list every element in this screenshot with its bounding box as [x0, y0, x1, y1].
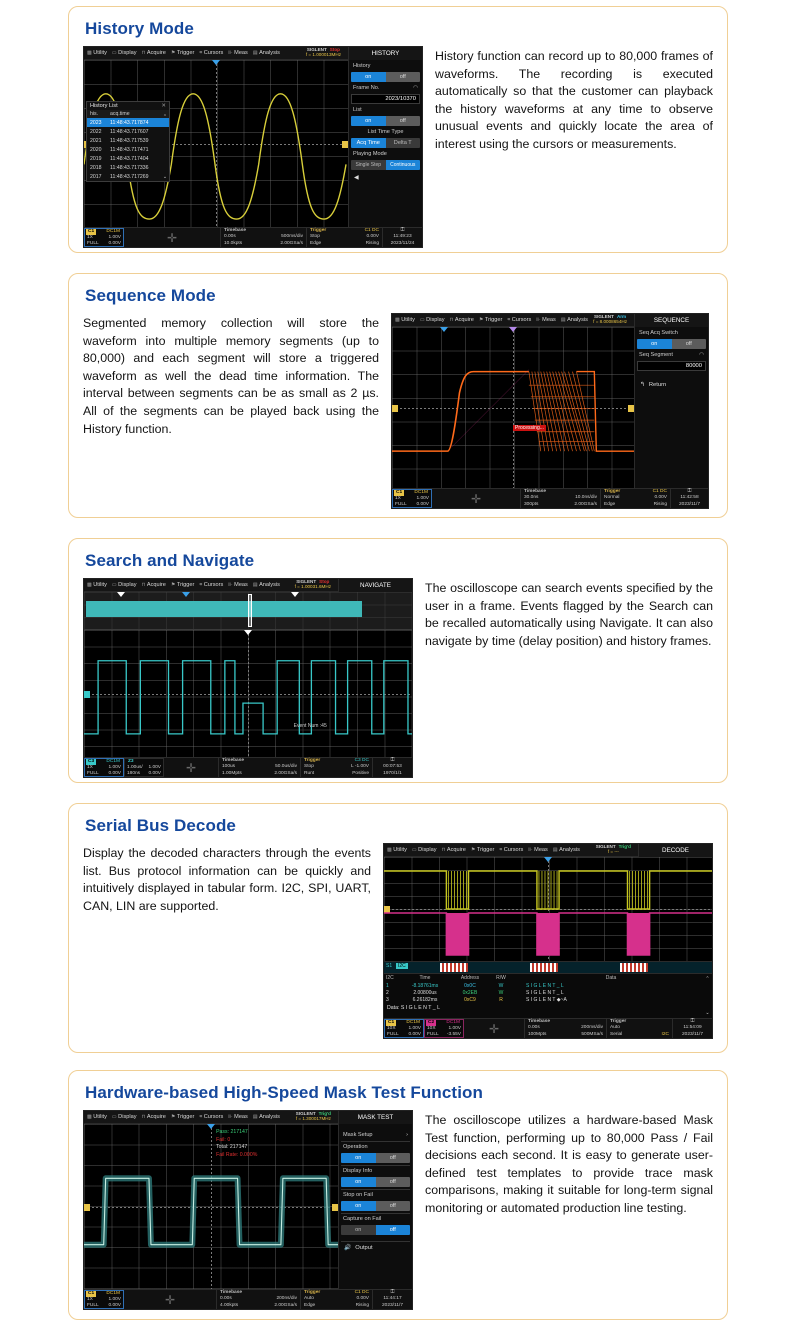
- menu-item-meas[interactable]: ⊪Meas: [228, 50, 248, 56]
- history-list-columns: his. acq.time: [87, 110, 169, 118]
- zoom-offset: 0.00V: [148, 771, 161, 777]
- menu-label: Meas: [542, 317, 556, 323]
- list-item[interactable]: 202311:48:43.717874: [87, 118, 169, 127]
- row-rw: R: [490, 997, 512, 1003]
- menu-item-meas[interactable]: ⊪Meas: [536, 317, 556, 323]
- channel-badge-c1[interactable]: C1DC1M 1X1.00V FULL0.00V: [84, 228, 124, 247]
- column-header-i2c: I2C: [386, 975, 400, 981]
- search-event-marker[interactable]: [182, 592, 190, 597]
- menu-item-trigger[interactable]: ⚑Trigger: [171, 50, 195, 56]
- frame-time: 11:48:43.717539: [110, 138, 166, 144]
- column-header-address: Address: [450, 975, 490, 981]
- cursors-icon: ⌗: [199, 1114, 202, 1120]
- menu-item-analysis[interactable]: ▤Analysis: [553, 847, 580, 853]
- decode-bus-strip[interactable]: S1 I2C: [384, 961, 712, 973]
- side-panel-history: History on off Frame No.◠ 2023/10370 Lis…: [348, 60, 422, 227]
- frame-time: 11:48:43.717607: [110, 129, 166, 135]
- timebase-group[interactable]: Timebase 0.00s200ns/div 4.00kpts2.00GSa/…: [216, 1290, 300, 1309]
- trigger-group[interactable]: TriggerC1 DC Normal0.00V EdgeRising: [600, 489, 670, 508]
- scope-middle: 1 History List ✕ his. a: [84, 60, 422, 227]
- history-list-title: History List: [90, 103, 118, 109]
- toggle-off[interactable]: off: [376, 1177, 411, 1187]
- frame-id: 2017: [90, 174, 110, 180]
- toggle-on[interactable]: on: [637, 339, 672, 349]
- menu-label: Utility: [93, 50, 107, 56]
- frame-time: 11:48:43.717874: [110, 120, 166, 126]
- menu-item-trigger[interactable]: ⚑Trigger: [171, 1114, 195, 1120]
- trigger-type: Serial: [610, 1032, 622, 1038]
- frame-id: 2020: [90, 147, 110, 153]
- row-index: 1: [386, 983, 400, 989]
- trigger-group[interactable]: TriggerC1 DC Auto0.00V EdgeRising: [300, 1290, 372, 1309]
- menu-item-trigger[interactable]: ⚑Trigger: [171, 582, 195, 588]
- row-index: 2: [386, 990, 400, 996]
- mask-setup-item[interactable]: Mask Setup›: [341, 1126, 410, 1139]
- acquire-icon: ⊓: [450, 317, 454, 323]
- menu-label: Display: [118, 582, 136, 588]
- search-event-marker[interactable]: [291, 592, 299, 597]
- row-address: 0x2EB: [450, 990, 490, 996]
- trigger-group[interactable]: TriggerC3 DC StopL -1.00V RuntPositive: [300, 758, 372, 777]
- menu-item-acquire[interactable]: ⊓Acquire: [142, 582, 166, 588]
- event-num-label: Event Num :45: [294, 723, 327, 729]
- row-time: -8.18761ms: [400, 983, 450, 989]
- timebase-samplerate: 2.00GSa/s: [274, 1303, 297, 1309]
- menu-label: Acquire: [147, 1114, 166, 1120]
- description-navigate: The oscilloscope can search events speci…: [425, 578, 713, 650]
- trigger-icon: ⚑: [171, 50, 175, 56]
- clock-date: 1970/1/1: [383, 771, 402, 777]
- waveform-grid[interactable]: [384, 857, 712, 961]
- clock-group: ⚿ 11:49:23 2023/11/24: [382, 228, 422, 247]
- stop-on-fail-toggle[interactable]: on off: [341, 1201, 410, 1211]
- row-data: S I G L E N T _ L: [512, 983, 710, 989]
- channel-badge-c2[interactable]: C2DC1M 10X1.00V FULL-3.55V: [424, 1019, 464, 1038]
- row-rw: W: [490, 983, 512, 989]
- oscilloscope-screenshot-navigate: ▩Utility ▭Display ⊓Acquire ⚑Trigger ⌗Cur…: [83, 578, 413, 778]
- column-header-acqtime: acq.time: [110, 111, 166, 117]
- menu-label: Utility: [401, 317, 415, 323]
- frequency-readout: f = 1.000013MHz: [306, 53, 341, 58]
- waveform-trace-digital: [84, 630, 412, 757]
- menu-label: Trigger: [477, 847, 495, 853]
- channel-bandwidth: FULL: [395, 502, 407, 508]
- toggle-on[interactable]: on: [351, 72, 386, 82]
- menu-item-utility[interactable]: ▩Utility: [87, 50, 107, 56]
- menu-item-display[interactable]: ▭Display: [112, 582, 137, 588]
- list-item[interactable]: 201711:48:43.717269: [87, 172, 169, 181]
- setting-label: Playing Mode: [351, 150, 420, 158]
- timebase-samplerate: 2.00GSa/s: [574, 502, 597, 508]
- trigger-group[interactable]: Trigger Auto SerialI2C: [606, 1019, 672, 1038]
- list-toggle[interactable]: on off: [351, 116, 420, 126]
- chevron-up-icon[interactable]: ⌃: [705, 976, 709, 982]
- utility-icon: ▩: [87, 50, 92, 56]
- menu-item-utility[interactable]: ▩Utility: [87, 1114, 107, 1120]
- meas-icon: ⊪: [228, 582, 232, 588]
- cursor-crosshair-icon: ✛: [124, 1290, 216, 1309]
- oscilloscope-screenshot-history: ▩Utility ▭Display ⊓Acquire ⚑Trigger ⌗Cur…: [83, 46, 423, 248]
- display-icon: ▭: [112, 582, 117, 588]
- timebase-group[interactable]: Timebase 30.0ns10.0ns/div 300pts2.00GSa/…: [520, 489, 600, 508]
- toggle-on[interactable]: on: [351, 116, 386, 126]
- trigger-slope: Rising: [356, 1303, 369, 1309]
- mask-pass-count: Pass: 217147: [216, 1129, 257, 1137]
- setting-label: Stop on Fail: [341, 1189, 410, 1199]
- scope-status-bar: C1DC1M 10X1.00V FULL0.00V C2DC1M 10X1.00…: [384, 1018, 712, 1038]
- row-address: 0x0C: [450, 983, 490, 989]
- channel-bandwidth: FULL: [87, 771, 99, 777]
- cursor-crosshair-icon: ✛: [464, 1019, 524, 1038]
- column-header-his: his.: [90, 111, 110, 117]
- menu-item-acquire[interactable]: ⊓Acquire: [442, 847, 466, 853]
- menu-item-analysis[interactable]: ▤Analysis: [253, 582, 280, 588]
- toggle-off[interactable]: off: [386, 116, 421, 126]
- row-index: 3: [386, 997, 400, 1003]
- table-row[interactable]: 2 2.00800us 0x2EB W S I G L E N T _ L: [384, 989, 712, 996]
- toggle-on[interactable]: on: [341, 1201, 376, 1211]
- menu-item-analysis[interactable]: ▤Analysis: [561, 317, 588, 323]
- trigger-icon: ⚑: [471, 847, 475, 853]
- scope-middle: Event Num :45: [84, 592, 412, 757]
- oscilloscope-screenshot-masktest: ▩Utility ▭Display ⊓Acquire ⚑Trigger ⌗Cur…: [83, 1110, 413, 1310]
- history-list-header: History List ✕: [87, 102, 169, 110]
- menu-item-trigger[interactable]: ⚑Trigger: [471, 847, 495, 853]
- channel-offset: 0.00V: [416, 502, 429, 508]
- row-rw: W: [490, 990, 512, 996]
- history-toggle[interactable]: on off: [351, 72, 420, 82]
- channel-bandwidth: FULL: [387, 1032, 399, 1038]
- page-title: History Mode: [85, 19, 713, 39]
- toggle-off[interactable]: off: [376, 1201, 411, 1211]
- cursors-icon: ⌗: [199, 50, 202, 56]
- channel-offset: -3.55V: [447, 1032, 461, 1038]
- waveform-grid[interactable]: Processing...: [392, 327, 634, 488]
- menu-item-cursors[interactable]: ⌗Cursors: [507, 317, 531, 323]
- brand-status-box: SIGLENT Arm f = 8.0008654Hz: [593, 315, 629, 325]
- menu-label: Utility: [393, 847, 407, 853]
- trigger-icon: ⚑: [171, 1114, 175, 1120]
- waveform-grid[interactable]: Pass: 217147 Fail: 0 Total: 217147 Fail …: [84, 1124, 338, 1289]
- menu-label: Trigger: [177, 1114, 195, 1120]
- scope-menubar: ▩Utility ▭Display ⊓Acquire ⚑Trigger ⌗Cur…: [84, 1111, 412, 1124]
- frame-time: 11:48:43.717471: [110, 147, 166, 153]
- menu-label: Analysis: [559, 847, 580, 853]
- toggle-off[interactable]: off: [386, 72, 421, 82]
- utility-icon: ▩: [395, 317, 400, 323]
- menu-item-acquire[interactable]: ⊓Acquire: [450, 317, 474, 323]
- acquisition-status: Trig'd: [619, 845, 631, 850]
- return-button[interactable]: ↰Return: [637, 379, 706, 391]
- knob-icon: ◠: [413, 85, 418, 91]
- scope-status-bar: C1DC1M 1X1.00V FULL0.00V ✛ Timebase 30.0…: [392, 488, 708, 508]
- toggle-off[interactable]: off: [376, 1225, 411, 1235]
- playing-mode-toggle[interactable]: Single Step Continuous: [351, 160, 420, 170]
- channel-bandwidth: FULL: [427, 1032, 439, 1038]
- waveform-grid[interactable]: Event Num :45: [84, 630, 412, 757]
- menu-label: Analysis: [259, 582, 280, 588]
- utility-icon: ▩: [87, 1114, 92, 1120]
- setting-label: List Time Type: [351, 128, 420, 136]
- scrollbar[interactable]: ⌃ ⌄: [162, 114, 168, 180]
- menu-item-acquire[interactable]: ⊓Acquire: [142, 50, 166, 56]
- frequency-readout: f = ---: [608, 850, 619, 855]
- description-masktest: The oscilloscope utilizes a hardware-bas…: [425, 1110, 713, 1218]
- description-sequence: Segmented memory collection will store t…: [83, 313, 379, 438]
- timebase-samplerate: 500MSa/s: [581, 1032, 603, 1038]
- scope-middle: Pass: 217147 Fail: 0 Total: 217147 Fail …: [84, 1124, 412, 1289]
- speaker-icon: 🔊: [344, 1245, 351, 1251]
- frame-no-label: Frame No.: [353, 85, 379, 91]
- history-list-panel[interactable]: History List ✕ his. acq.time 202311:48:4…: [86, 101, 170, 182]
- play-back-button[interactable]: ◀: [351, 172, 420, 184]
- timebase-group[interactable]: Timebase 0.00s200ms/div 100Mpts500MSa/s: [524, 1019, 606, 1038]
- menu-item-acquire[interactable]: ⊓Acquire: [142, 1114, 166, 1120]
- trigger-source: I2C: [662, 1032, 669, 1038]
- list-item[interactable]: 202011:48:43.717471: [87, 145, 169, 154]
- mask-setup-label: Mask Setup: [343, 1132, 373, 1138]
- row-time: 6.26182ms: [400, 997, 450, 1003]
- menu-item-analysis[interactable]: ▤Analysis: [253, 1114, 280, 1120]
- trigger-slope: Rising: [366, 241, 379, 247]
- menu-label: Cursors: [204, 582, 224, 588]
- mask-fail-count: Fail: 0: [216, 1137, 257, 1145]
- table-row[interactable]: 3 6.26182ms 0xC9 R S I G L E N T ◆~A: [384, 996, 712, 1003]
- toggle-delta-t[interactable]: Delta T: [386, 138, 421, 148]
- channel-badge-c1[interactable]: C1DC1M 1X1.00V FULL0.00V: [84, 1290, 124, 1309]
- setting-label: Seq Segment◠: [637, 351, 706, 359]
- operation-toggle[interactable]: on off: [341, 1153, 410, 1163]
- decode-data-footer: Data: S I G L E N T _ L: [384, 1003, 712, 1013]
- channel-badge-c3[interactable]: C3DC1M 1X1.00V FULL0.00V: [84, 758, 124, 777]
- analysis-icon: ▤: [253, 50, 258, 56]
- menu-item-display[interactable]: ▭Display: [412, 847, 437, 853]
- timebase-group[interactable]: Timebase 0.00s500ms/div 10.0kpts2.00GSa/…: [220, 228, 306, 247]
- analysis-icon: ▤: [561, 317, 566, 323]
- cursors-icon: ⌗: [507, 317, 510, 323]
- menu-label: Trigger: [177, 582, 195, 588]
- mask-statistics: Pass: 217147 Fail: 0 Total: 217147 Fail …: [216, 1129, 257, 1159]
- menu-item-cursors[interactable]: ⌗Cursors: [199, 50, 223, 56]
- card-search-navigate: Search and Navigate ▩Utility ▭Display ⊓A…: [68, 538, 728, 783]
- zoom-data-band: [86, 601, 362, 617]
- zoom-window-handle[interactable]: [248, 594, 252, 627]
- clock-group: ⚿ 11:42:58 2023/11/7: [670, 489, 708, 508]
- analysis-icon: ▤: [253, 582, 258, 588]
- table-row[interactable]: 1 -8.18761ms 0x0C W S I G L E N T _ L: [384, 982, 712, 989]
- menu-label: Trigger: [485, 317, 503, 323]
- cursor-crosshair-icon: ✛: [164, 758, 218, 777]
- toggle-on[interactable]: on: [341, 1153, 376, 1163]
- setting-label: Display Info: [341, 1165, 410, 1175]
- menu-label: Trigger: [177, 50, 195, 56]
- channel-badge-c1[interactable]: C1DC1M 1X1.00V FULL0.00V: [392, 489, 432, 508]
- menu-item-cursors[interactable]: ⌗Cursors: [199, 582, 223, 588]
- scope-menubar: ▩Utility ▭Display ⊓Acquire ⚑Trigger ⌗Cur…: [392, 314, 708, 327]
- menu-item-analysis[interactable]: ▤Analysis: [253, 50, 280, 56]
- list-item[interactable]: 201911:48:43.717404: [87, 154, 169, 163]
- trigger-group[interactable]: TriggerC1 DC Stop0.00V EdgeRising: [306, 228, 382, 247]
- display-info-toggle[interactable]: on off: [341, 1177, 410, 1187]
- meas-icon: ⊪: [228, 1114, 232, 1120]
- clock-date: 2023/11/7: [679, 502, 700, 508]
- scope-menubar: ▩Utility ▭Display ⊓Acquire ⚑Trigger ⌗Cur…: [84, 579, 412, 592]
- row-time: 2.00800us: [400, 990, 450, 996]
- side-panel-sequence: Seq Acq Switch on off Seq Segment◠ 80000…: [634, 327, 708, 488]
- menu-item-meas[interactable]: ⊪Meas: [228, 582, 248, 588]
- waveform-trace-mask-square: [84, 1124, 338, 1289]
- list-item[interactable]: 202111:48:43.717539: [87, 136, 169, 145]
- menu-label: Acquire: [147, 582, 166, 588]
- channel-bandwidth: FULL: [87, 1303, 99, 1309]
- trigger-type: Edge: [304, 1303, 315, 1309]
- menu-item-utility[interactable]: ▩Utility: [395, 317, 415, 323]
- brand-status-box: SIGLENT Stop f = 1.000013MHz: [306, 48, 343, 58]
- menu-item-display[interactable]: ▭Display: [112, 1114, 137, 1120]
- toggle-off[interactable]: off: [376, 1153, 411, 1163]
- menu-item-display[interactable]: ▭Display: [112, 50, 137, 56]
- timebase-samplerate: 2.00GSa/s: [274, 771, 297, 777]
- search-event-marker[interactable]: [117, 592, 125, 597]
- waveform-trace-pulse-persistence: [392, 327, 634, 488]
- card-content-row: ▩Utility ▭Display ⊓Acquire ⚑Trigger ⌗Cur…: [83, 1110, 713, 1310]
- waveform-trace-i2c: [384, 857, 712, 961]
- play-left-icon: ◀: [354, 175, 358, 181]
- column-header-data: Data: [512, 975, 710, 981]
- menu-label: Meas: [234, 582, 248, 588]
- toggle-continuous[interactable]: Continuous: [386, 160, 421, 170]
- decode-events-table[interactable]: I2C Time Address R/W Data 1 -8.18761ms 0…: [384, 973, 712, 1018]
- frequency-readout: f = 1.00031.6MHz: [295, 585, 331, 590]
- timebase-samplerate: 2.00GSa/s: [280, 241, 303, 247]
- trigger-icon: ⚑: [479, 317, 483, 323]
- setting-label: Frame No.◠: [351, 84, 420, 92]
- display-icon: ▭: [412, 847, 417, 853]
- scope-status-bar: C3DC1M 1X1.00V FULL0.00V Z3 1.00us/1.00V…: [84, 757, 412, 777]
- toggle-off[interactable]: off: [672, 339, 707, 349]
- analysis-icon: ▤: [253, 1114, 258, 1120]
- menu-item-trigger[interactable]: ⚑Trigger: [479, 317, 503, 323]
- frequency-readout: f = 1.300017MHz: [296, 1117, 331, 1122]
- chevron-down-icon[interactable]: ⌄: [163, 174, 167, 180]
- menu-item-cursors[interactable]: ⌗Cursors: [499, 847, 523, 853]
- channel-offset: 0.00V: [408, 1032, 421, 1038]
- seq-segment-value[interactable]: 80000: [637, 361, 706, 371]
- setting-label: History: [351, 62, 420, 70]
- acquire-icon: ⊓: [142, 582, 146, 588]
- channel-bandwidth: FULL: [87, 241, 99, 247]
- display-icon: ▭: [112, 1114, 117, 1120]
- card-mask-test: Hardware-based High-Speed Mask Test Func…: [68, 1070, 728, 1320]
- chevron-up-icon[interactable]: ⌃: [163, 114, 167, 120]
- toggle-single-step[interactable]: Single Step: [351, 160, 386, 170]
- acquire-icon: ⊓: [142, 50, 146, 56]
- output-button[interactable]: 🔊Output: [341, 1241, 410, 1254]
- card-history-mode: History Mode ▩Utility ▭Display ⊓Acquire …: [68, 6, 728, 253]
- setting-label: List: [351, 106, 420, 114]
- scope-middle: Processing... Seq Acq Switch on off Seq …: [392, 327, 708, 488]
- scope-menubar: ▩Utility ▭Display ⊓Acquire ⚑Trigger ⌗Cur…: [84, 47, 422, 60]
- menu-label: Utility: [93, 582, 107, 588]
- mask-fail-rate: Fail Rate: 0.000%: [216, 1152, 257, 1160]
- channel-badge-c1[interactable]: C1DC1M 10X1.00V FULL0.00V: [384, 1019, 424, 1038]
- menu-label: Cursors: [204, 1114, 224, 1120]
- toggle-on[interactable]: on: [341, 1225, 376, 1235]
- menu-item-display[interactable]: ▭Display: [420, 317, 445, 323]
- frame-time: 11:48:43.717404: [110, 156, 166, 162]
- capture-on-fail-toggle[interactable]: on off: [341, 1225, 410, 1235]
- trigger-type: Edge: [604, 502, 615, 508]
- side-panel-masktest: Mask Setup› Operation on off Display Inf…: [338, 1124, 412, 1289]
- card-sequence-mode: Sequence Mode Segmented memory collectio…: [68, 273, 728, 518]
- setting-label: Capture on Fail: [341, 1213, 410, 1223]
- return-label: Return: [649, 382, 666, 388]
- toggle-acq-time[interactable]: Acq Time: [351, 138, 386, 148]
- output-label: Output: [355, 1245, 372, 1251]
- page-title: Search and Navigate: [85, 551, 713, 571]
- bus-protocol-label: I2C: [396, 963, 408, 969]
- clock-date: 2023/11/7: [382, 1303, 403, 1309]
- list-time-type-toggle[interactable]: Acq Time Delta T: [351, 138, 420, 148]
- frequency-readout: f = 8.0008654Hz: [593, 320, 627, 325]
- toggle-on[interactable]: on: [341, 1177, 376, 1187]
- menu-item-utility[interactable]: ▩Utility: [87, 582, 107, 588]
- menu-item-cursors[interactable]: ⌗Cursors: [199, 1114, 223, 1120]
- scrollbar[interactable]: ⌃ ⌄: [704, 976, 711, 1016]
- trigger-type: Runt: [304, 771, 314, 777]
- menu-label: Cursors: [512, 317, 532, 323]
- clock-group: ⚿ 11:44:17 2023/11/7: [372, 1290, 412, 1309]
- frame-no-value[interactable]: 2023/10370: [351, 94, 420, 104]
- menu-item-utility[interactable]: ▩Utility: [387, 847, 407, 853]
- utility-icon: ▩: [87, 582, 92, 588]
- frame-id: 2022: [90, 129, 110, 135]
- list-item[interactable]: 201811:48:43.717336: [87, 163, 169, 172]
- menu-label: Analysis: [259, 1114, 280, 1120]
- mask-total-count: Total: 217147: [216, 1144, 257, 1152]
- acquire-icon: ⊓: [142, 1114, 146, 1120]
- menu-label: Analysis: [259, 50, 280, 56]
- panel-title-history: HISTORY: [348, 47, 422, 60]
- menu-item-meas[interactable]: ⊪Meas: [528, 847, 548, 853]
- menu-item-meas[interactable]: ⊪Meas: [228, 1114, 248, 1120]
- close-icon[interactable]: ✕: [161, 103, 166, 109]
- timebase-group[interactable]: Timebase 100us50.0us/div 1.00Mpts2.00GSa…: [218, 758, 300, 777]
- zoom-bandwidth: 180ns: [127, 771, 140, 777]
- bus-channel-label: S1: [386, 963, 392, 969]
- timebase-memory: 300pts: [524, 502, 538, 508]
- description-decode: Display the decoded characters through t…: [83, 843, 371, 915]
- frame-time: 11:48:43.717336: [110, 165, 166, 171]
- column-header-rw: R/W: [490, 975, 512, 981]
- brand-status-box: SIGLENT Trig'd f = ---: [596, 845, 633, 855]
- decode-packet-marker: [620, 963, 648, 972]
- list-item[interactable]: 202211:48:43.717607: [87, 127, 169, 136]
- card-content-row: ▩Utility ▭Display ⊓Acquire ⚑Trigger ⌗Cur…: [83, 578, 713, 778]
- frame-id: 2019: [90, 156, 110, 162]
- seq-acq-switch-toggle[interactable]: on off: [637, 339, 706, 349]
- clock-date: 2023/11/24: [391, 241, 415, 247]
- scope-status-bar: C1DC1M 1X1.00V FULL0.00V ✛ Timebase 0.00…: [84, 227, 422, 247]
- zoom-overview-strip[interactable]: [84, 592, 412, 630]
- chevron-down-icon[interactable]: ⌄: [705, 1010, 709, 1016]
- waveform-grid[interactable]: 1 History List ✕ his. a: [84, 60, 348, 227]
- cursors-icon: ⌗: [199, 582, 202, 588]
- channel-badge-z3[interactable]: Z3 1.00us/1.00V 180ns0.00V: [124, 758, 164, 777]
- trigger-slope: Rising: [654, 502, 667, 508]
- oscilloscope-screenshot-decode: ▩Utility ▭Display ⊓Acquire ⚑Trigger ⌗Cur…: [383, 843, 713, 1039]
- return-icon: ↰: [640, 382, 645, 388]
